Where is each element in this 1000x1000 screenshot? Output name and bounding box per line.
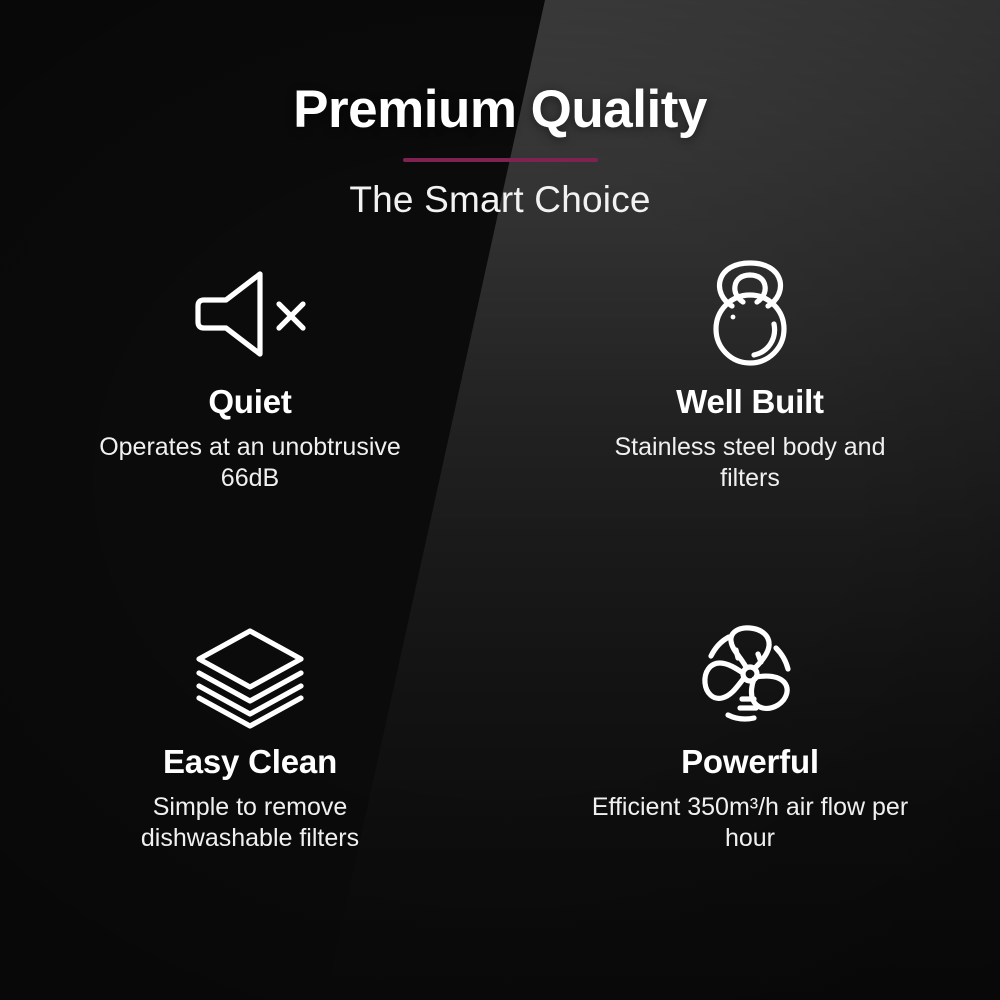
feature-card-easy-clean: Easy Clean Simple to remove dishwashable… bbox=[0, 610, 500, 970]
feature-title: Easy Clean bbox=[163, 744, 337, 780]
feature-description: Operates at an unobtrusive 66dB bbox=[85, 432, 415, 493]
feature-card-powerful: Powerful Efficient 350m³/h air flow per … bbox=[500, 610, 1000, 970]
kettlebell-icon bbox=[690, 258, 810, 370]
feature-description: Efficient 350m³/h air flow per hour bbox=[585, 792, 915, 853]
feature-card-quiet: Quiet Operates at an unobtrusive 66dB bbox=[0, 250, 500, 610]
fan-blades-icon bbox=[690, 618, 810, 730]
feature-title: Quiet bbox=[208, 384, 291, 420]
layers-stack-icon bbox=[190, 618, 310, 730]
title-accent-divider bbox=[403, 158, 598, 162]
poster-header: Premium Quality The Smart Choice bbox=[0, 0, 1000, 220]
feature-description: Simple to remove dishwashable filters bbox=[85, 792, 415, 853]
feature-title: Powerful bbox=[681, 744, 819, 780]
feature-card-well-built: Well Built Stainless steel body and filt… bbox=[500, 250, 1000, 610]
feature-description: Stainless steel body and filters bbox=[585, 432, 915, 493]
speaker-mute-icon bbox=[190, 258, 310, 370]
promo-poster: Premium Quality The Smart Choice Quiet O… bbox=[0, 0, 1000, 1000]
feature-grid: Quiet Operates at an unobtrusive 66dB We… bbox=[0, 250, 1000, 970]
page-subtitle: The Smart Choice bbox=[0, 180, 1000, 221]
feature-title: Well Built bbox=[676, 384, 824, 420]
page-title: Premium Quality bbox=[0, 0, 1000, 138]
